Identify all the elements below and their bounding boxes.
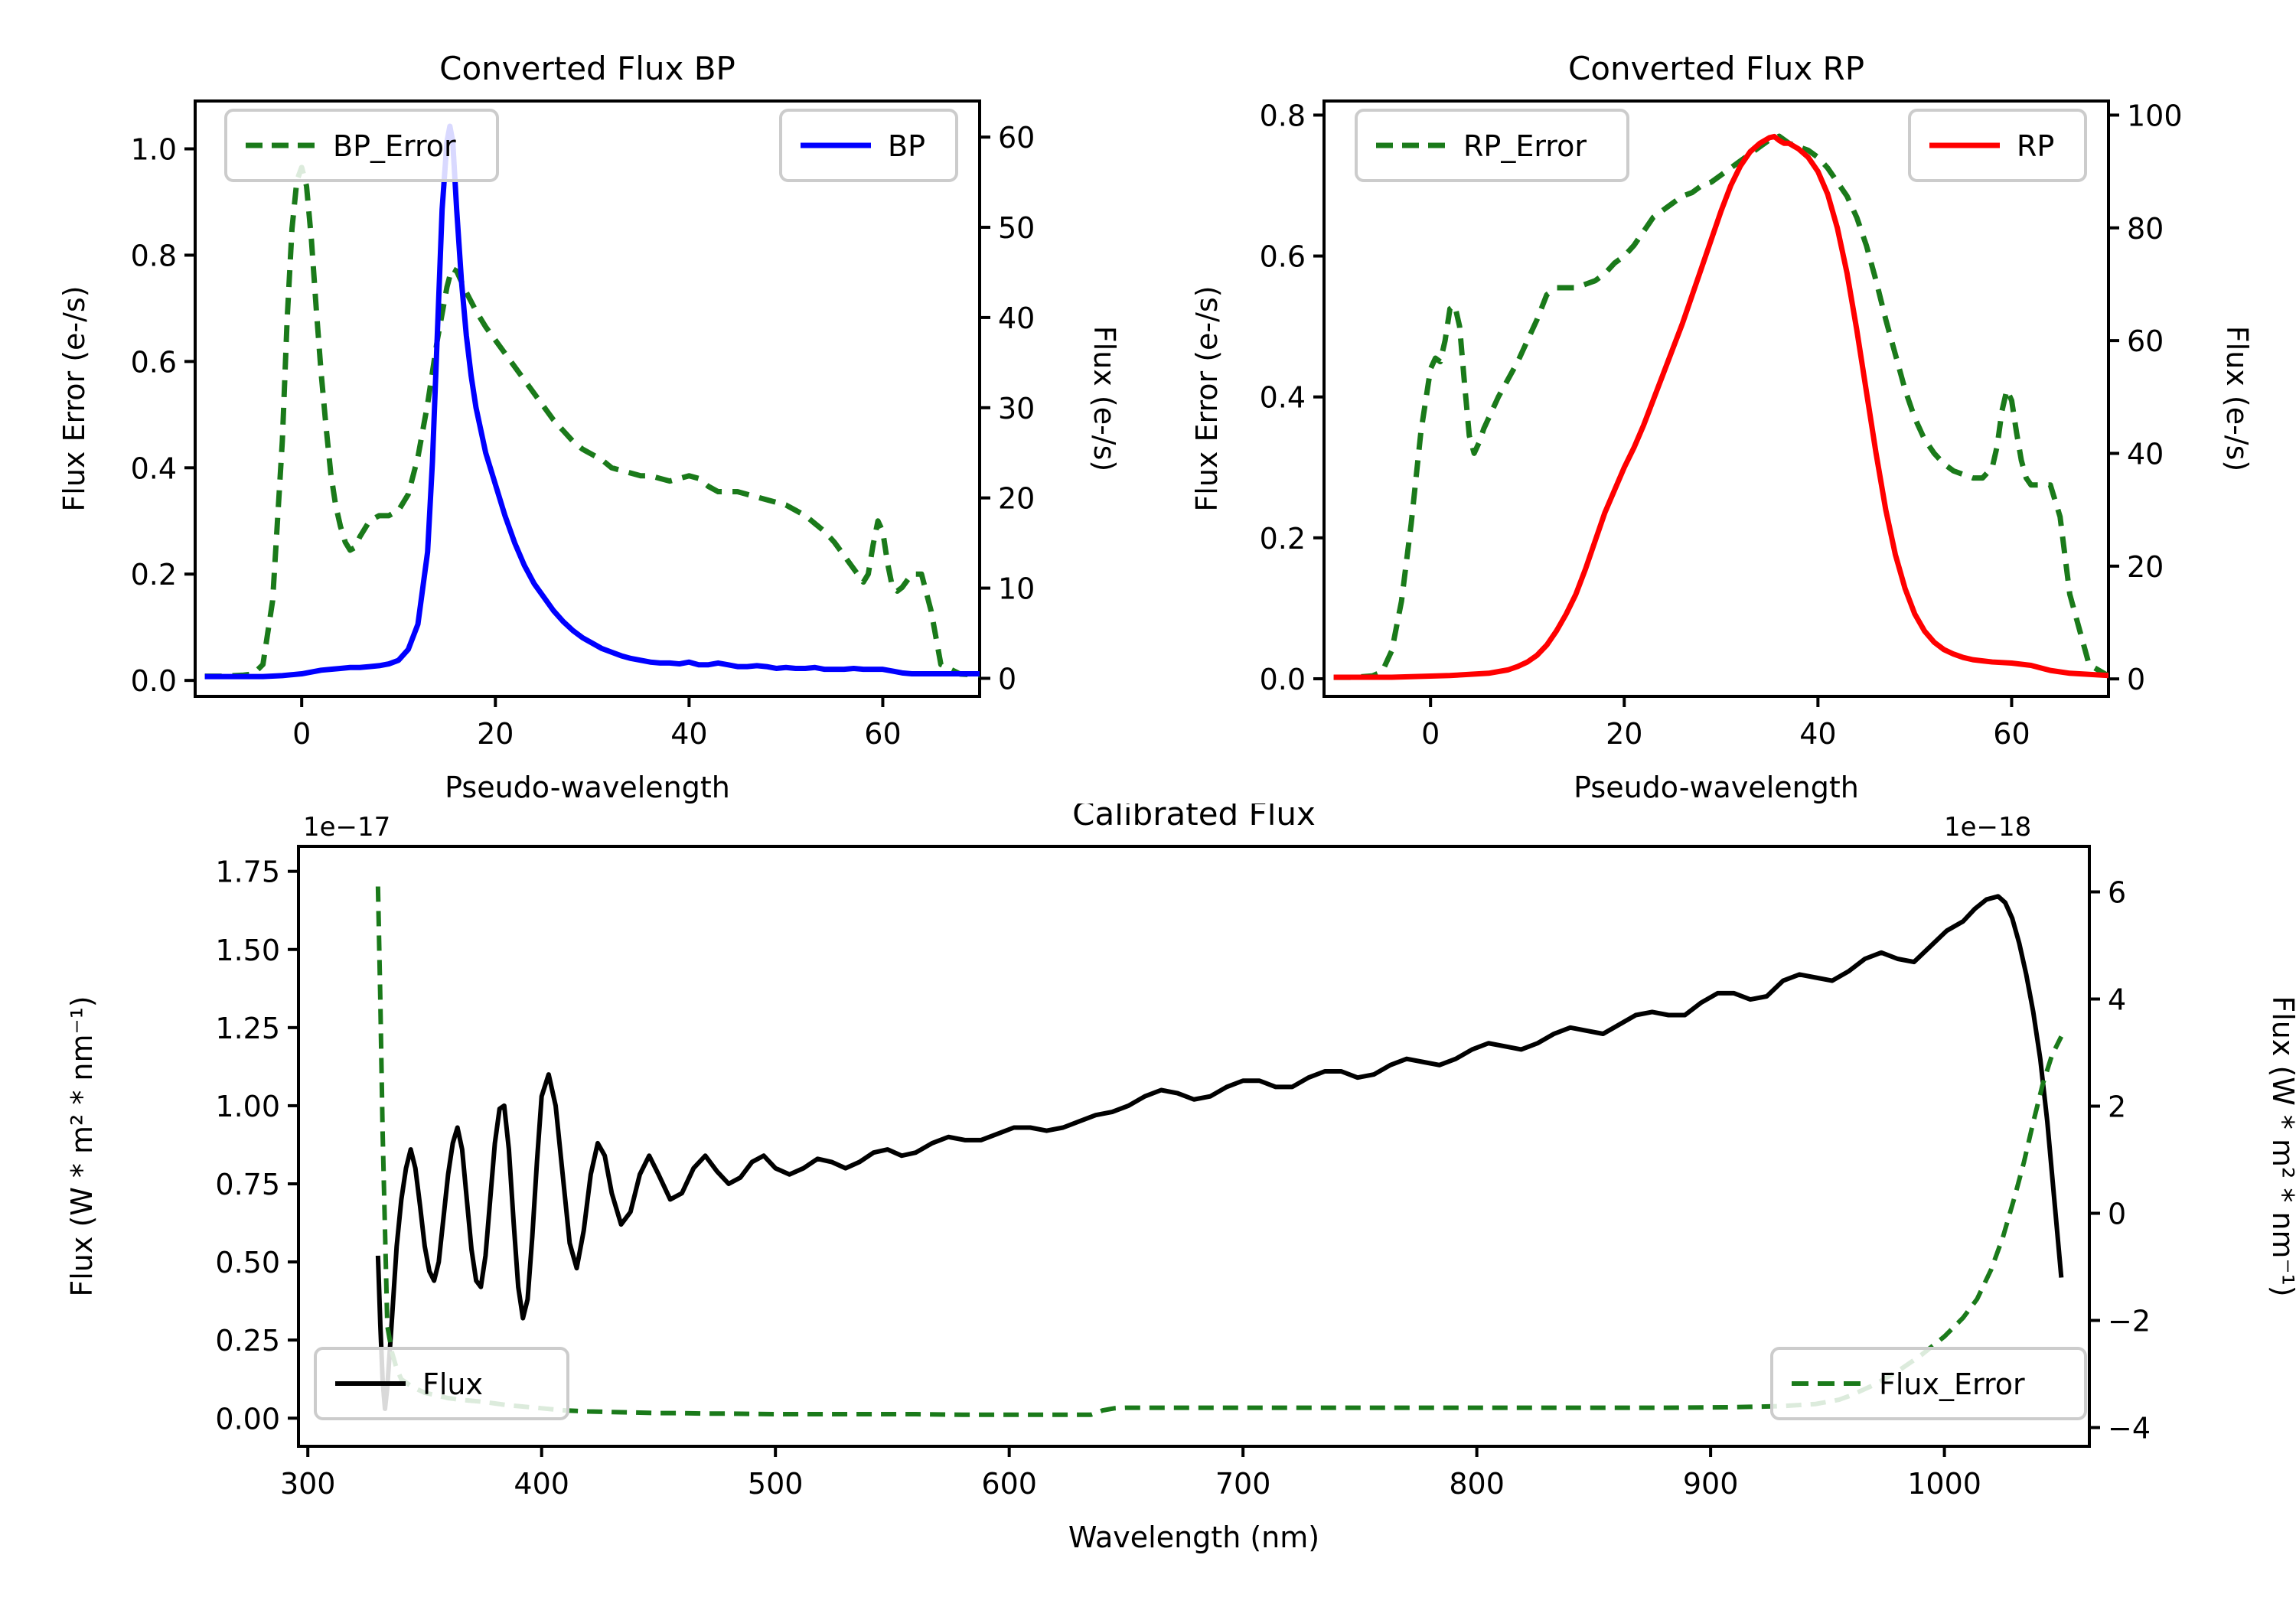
x-tick-label: 60 (864, 717, 901, 751)
y-axis-offset-right: 1e−18 (1944, 812, 2031, 843)
x-tick-label: 40 (670, 717, 707, 751)
y-tick-label-right: 50 (998, 211, 1035, 245)
x-axis-label: Pseudo-wavelength (445, 771, 730, 804)
x-tick-label: 60 (1993, 717, 2030, 751)
chart-title: Converted Flux RP (1568, 54, 1864, 87)
x-tick-label: 500 (748, 1467, 804, 1501)
y-tick-label-left: 1.0 (131, 133, 177, 167)
chart-rp: Converted Flux RP0204060Pseudo-wavelengt… (1148, 54, 2296, 834)
y-tick-label-right: 4 (2108, 983, 2126, 1017)
y-tick-label-right: 60 (998, 121, 1035, 155)
y-tick-label-right: 10 (998, 572, 1035, 606)
legend-left: Flux (315, 1348, 568, 1419)
y-axis-label-right: Flux (e-/s) (1088, 326, 1121, 471)
y-tick-label-left: 0.00 (215, 1402, 280, 1436)
panel-converted-flux-bp: Converted Flux BP0204060Pseudo-wavelengt… (0, 54, 1148, 834)
y-tick-label-right: 60 (2127, 324, 2164, 358)
series-flux_error (378, 887, 2061, 1415)
chart-calibrated: Calibrated Flux1e−171e−18300400500600700… (0, 803, 2296, 1607)
legend-right: Flux_Error (1772, 1348, 2086, 1419)
x-tick-label: 400 (514, 1467, 569, 1501)
series-group (205, 126, 980, 676)
x-tick-label: 800 (1449, 1467, 1505, 1501)
series-rp (1334, 136, 2108, 677)
y-axis-label-left: Flux Error (e-/s) (57, 285, 91, 511)
y-tick-label-left: 0.6 (1260, 240, 1306, 274)
y-tick-label-left: 1.75 (215, 856, 280, 889)
panel-calibrated-flux: Calibrated Flux1e−171e−18300400500600700… (0, 803, 2296, 1607)
y-tick-label-right: −4 (2108, 1412, 2151, 1446)
y-tick-label-right: 20 (2127, 550, 2164, 584)
y-tick-label-left: 0.25 (215, 1324, 280, 1358)
legend-right: BP (781, 110, 957, 181)
y-tick-label-right: 40 (2127, 437, 2164, 471)
y-axis-label-left: Flux Error (e-/s) (1190, 285, 1224, 511)
figure-canvas: Converted Flux BP0204060Pseudo-wavelengt… (0, 0, 2296, 1607)
y-tick-label-left: 0.75 (215, 1168, 280, 1201)
legend-label-bp_error: BP_Error (333, 129, 456, 163)
y-tick-label-left: 0.0 (1260, 663, 1306, 696)
y-tick-label-left: 0.6 (131, 345, 177, 379)
y-tick-label-left: 0.4 (1260, 381, 1306, 415)
y-tick-label-right: 6 (2108, 876, 2126, 910)
y-tick-label-left: 0.8 (131, 239, 177, 272)
y-tick-label-left: 1.50 (215, 934, 280, 967)
y-tick-label-right: 2 (2108, 1090, 2126, 1124)
series-bp (205, 126, 980, 676)
legend-label-bp: BP (888, 129, 925, 163)
x-tick-label: 20 (1606, 717, 1642, 751)
x-axis-label: Wavelength (nm) (1068, 1521, 1319, 1554)
y-axis-label-left: Flux (W * m² * nm⁻¹) (65, 996, 99, 1296)
panel-converted-flux-rp: Converted Flux RP0204060Pseudo-wavelengt… (1148, 54, 2296, 834)
y-tick-label-right: 0 (998, 662, 1016, 696)
y-tick-label-left: 0.0 (131, 664, 177, 698)
plot-frame (1324, 101, 2108, 696)
chart-bp: Converted Flux BP0204060Pseudo-wavelengt… (0, 54, 1148, 834)
y-tick-label-left: 0.50 (215, 1246, 280, 1279)
x-tick-label: 700 (1215, 1467, 1271, 1501)
legend-label-flux_error: Flux_Error (1879, 1367, 2025, 1401)
series-group (378, 887, 2061, 1415)
y-axis-label-right: Flux (W * m² * nm⁻¹) (2266, 996, 2296, 1296)
y-tick-label-left: 0.4 (131, 451, 177, 485)
x-tick-label: 900 (1683, 1467, 1739, 1501)
y-axis-offset-left: 1e−17 (303, 812, 390, 843)
x-tick-label: 0 (1421, 717, 1440, 751)
legend-right: RP (1910, 110, 2086, 181)
x-tick-label: 600 (981, 1467, 1037, 1501)
x-tick-label: 0 (292, 717, 311, 751)
series-flux (378, 896, 2061, 1409)
y-tick-label-left: 0.8 (1260, 99, 1306, 132)
x-tick-label: 20 (477, 717, 514, 751)
y-tick-label-right: 80 (2127, 212, 2164, 246)
legend-left: BP_Error (226, 110, 497, 181)
y-tick-label-right: 0 (2127, 663, 2145, 696)
plot-frame (195, 101, 980, 696)
y-tick-label-right: 0 (2108, 1198, 2126, 1231)
legend-label-flux: Flux (422, 1367, 483, 1401)
series-bp_error (205, 168, 980, 676)
legend-left: RP_Error (1356, 110, 1628, 181)
legend-label-rp_error: RP_Error (1463, 129, 1587, 163)
y-axis-label-right: Flux (e-/s) (2220, 326, 2254, 471)
x-axis-label: Pseudo-wavelength (1574, 771, 1859, 804)
series-group (1334, 136, 2108, 677)
chart-title: Calibrated Flux (1072, 803, 1316, 833)
y-tick-label-right: 100 (2127, 99, 2183, 132)
y-tick-label-left: 0.2 (131, 558, 177, 592)
y-tick-label-right: −2 (2108, 1305, 2151, 1338)
x-tick-label: 300 (280, 1467, 336, 1501)
y-tick-label-right: 30 (998, 392, 1035, 425)
legend-label-rp: RP (2017, 129, 2054, 163)
y-tick-label-left: 1.00 (215, 1090, 280, 1123)
x-tick-label: 40 (1799, 717, 1836, 751)
chart-title: Converted Flux BP (439, 54, 735, 87)
x-tick-label: 1000 (1907, 1467, 1981, 1501)
y-tick-label-left: 1.25 (215, 1012, 280, 1045)
y-tick-label-left: 0.2 (1260, 522, 1306, 556)
y-tick-label-right: 20 (998, 482, 1035, 516)
y-tick-label-right: 40 (998, 302, 1035, 335)
